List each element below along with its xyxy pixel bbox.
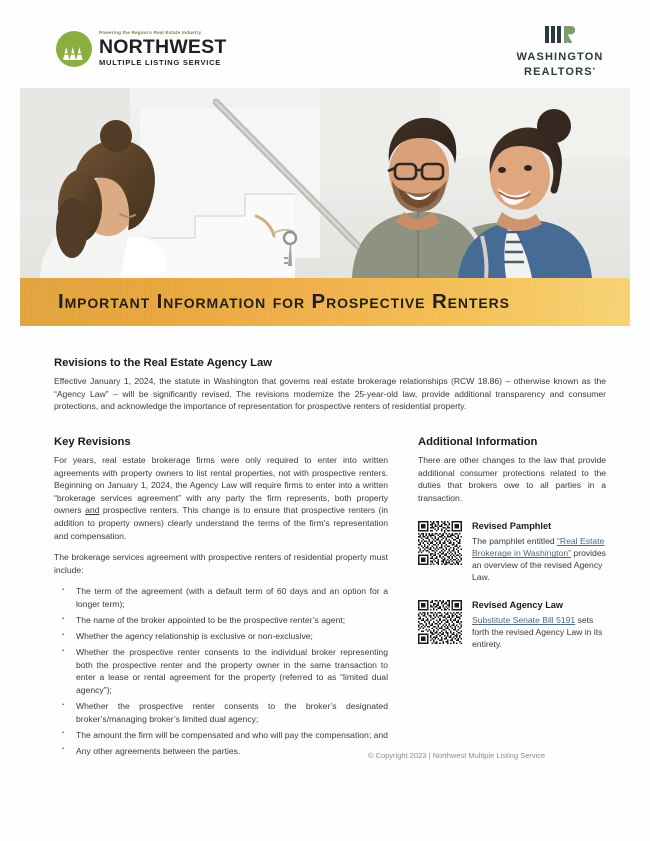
intro-heading: Revisions to the Real Estate Agency Law: [54, 357, 606, 369]
nwmls-logo: Powering the Region's Real Estate Indust…: [56, 31, 226, 67]
resource-title: Revised Agency Law: [472, 600, 606, 611]
additional-information-heading: Additional Information: [418, 436, 606, 448]
additional-information-column: Additional Information There are other c…: [418, 436, 606, 650]
resource-body: Substitute Senate Bill 5191 sets forth t…: [472, 614, 606, 650]
nwmls-subtitle: MULTIPLE LISTING SERVICE: [99, 59, 226, 67]
list-item: Whether the prospective renter consents …: [54, 700, 388, 725]
resource-text: Revised Pamphlet The pamphlet entitled “…: [472, 521, 606, 583]
banner-title: Important Information for Prospective Re…: [58, 290, 510, 314]
realtor-r-block-icon: [505, 26, 615, 44]
washington-realtors-name: WASHINGTON REALTORS•: [505, 50, 615, 79]
resource-text: Revised Agency Law Substitute Senate Bil…: [472, 600, 606, 650]
intro-paragraph: Effective January 1, 2024, the statute i…: [54, 375, 606, 413]
qr-code-revised-pamphlet[interactable]: [418, 521, 462, 565]
nwmls-mountain-mark-icon: [56, 31, 92, 67]
wr-line-1: WASHINGTON: [505, 50, 615, 65]
washington-realtors-logo: WASHINGTON REALTORS•: [505, 26, 615, 79]
resource-revised-pamphlet: Revised Pamphlet The pamphlet entitled “…: [418, 521, 606, 583]
key-revisions-paragraph-2: The brokerage services agreement with pr…: [54, 551, 388, 576]
kr-p1-part2: prospective renters. This change is to e…: [54, 505, 388, 540]
key-revisions-column: Key Revisions For years, real estate bro…: [54, 436, 388, 761]
resource-revised-agency-law: Revised Agency Law Substitute Senate Bil…: [418, 600, 606, 650]
resource-text-before: The pamphlet entitled: [472, 536, 557, 546]
wr-line-2: REALTORS•: [505, 65, 615, 80]
list-item: The term of the agreement (with a defaul…: [54, 585, 388, 610]
hero-photo: [20, 88, 630, 278]
kr-p1-emphasis: and: [85, 505, 99, 515]
list-item: The amount the firm will be compensated …: [54, 729, 388, 742]
list-item: Whether the prospective renter consents …: [54, 646, 388, 696]
senate-bill-link[interactable]: Substitute Senate Bill 5191: [472, 615, 575, 625]
requirements-list: The term of the agreement (with a defaul…: [54, 585, 388, 757]
key-revisions-paragraph-1: For years, real estate brokerage firms w…: [54, 454, 388, 542]
key-revisions-heading: Key Revisions: [54, 436, 388, 448]
list-item: The name of the broker appointed to be t…: [54, 614, 388, 627]
title-banner: Important Information for Prospective Re…: [20, 278, 630, 326]
list-item: Whether the agency relationship is exclu…: [54, 630, 388, 643]
nwmls-name: NORTHWEST: [99, 38, 226, 58]
qr-code-revised-agency-law[interactable]: [418, 600, 462, 644]
resource-body: The pamphlet entitled “Real Estate Broke…: [472, 535, 606, 583]
list-item: Any other agreements between the parties…: [54, 745, 388, 758]
resource-title: Revised Pamphlet: [472, 521, 606, 532]
document-header: Powering the Region's Real Estate Indust…: [0, 0, 650, 88]
registered-mark: •: [593, 66, 596, 72]
copyright-notice: © Copyright 2023 | Northwest Multiple Li…: [368, 751, 545, 760]
intro-section: Revisions to the Real Estate Agency Law …: [54, 357, 606, 422]
additional-information-paragraph: There are other changes to the law that …: [418, 454, 606, 504]
document-page: Powering the Region's Real Estate Indust…: [0, 0, 650, 841]
